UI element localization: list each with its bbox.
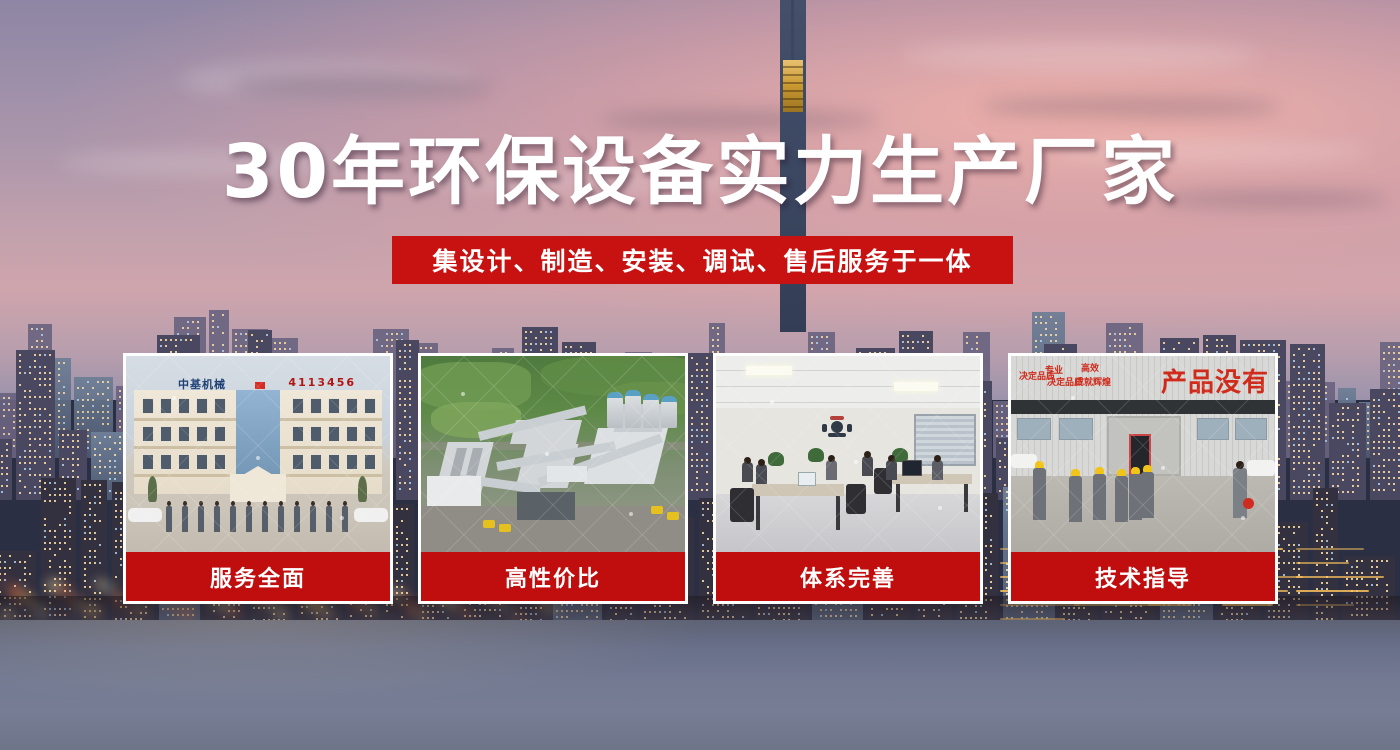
bank-light	[105, 587, 114, 592]
bank-light	[0, 580, 5, 585]
cloud	[230, 74, 490, 100]
feature-card[interactable]: 中基机械 4113456 服务全面	[123, 353, 393, 604]
subtitle-banner: 集设计、制造、安装、调试、售后服务于一体	[392, 236, 1013, 284]
feature-card-list: 中基机械 4113456 服务全面	[123, 353, 1278, 604]
riverfront-light-strip	[1296, 576, 1384, 578]
production-plant-aerial-photo	[421, 356, 685, 552]
office-interior-photo	[716, 356, 980, 552]
river-water	[0, 620, 1400, 750]
workshop-training-photo: 产品没有 决定品质 专业 决定品质 高效 成就辉煌	[1011, 356, 1275, 552]
cloud	[600, 110, 880, 130]
riverfront-light-strip	[1296, 548, 1364, 550]
bank-light	[48, 580, 60, 590]
card-caption: 服务全面	[126, 552, 390, 601]
riverfront-light-strip	[1296, 562, 1349, 564]
page-title: 30年环保设备实力生产厂家	[0, 133, 1400, 211]
cloud	[980, 96, 1280, 118]
cloud	[900, 40, 1260, 70]
card-caption: 高性价比	[421, 552, 685, 601]
feature-card[interactable]: 高性价比	[418, 353, 688, 604]
feature-card[interactable]: 产品没有 决定品质 专业 决定品质 高效 成就辉煌	[1008, 353, 1278, 604]
card-caption: 体系完善	[716, 552, 980, 601]
bank-light	[95, 581, 107, 587]
banner-stage: 30年环保设备实力生产厂家 集设计、制造、安装、调试、售后服务于一体	[0, 0, 1400, 750]
card-caption: 技术指导	[1011, 552, 1275, 601]
feature-card[interactable]: 体系完善	[713, 353, 983, 604]
company-headquarters-photo: 中基机械 4113456	[126, 356, 390, 552]
riverfront-light-strip	[1296, 590, 1369, 592]
subtitle-text: 集设计、制造、安装、调试、售后服务于一体	[432, 242, 972, 278]
